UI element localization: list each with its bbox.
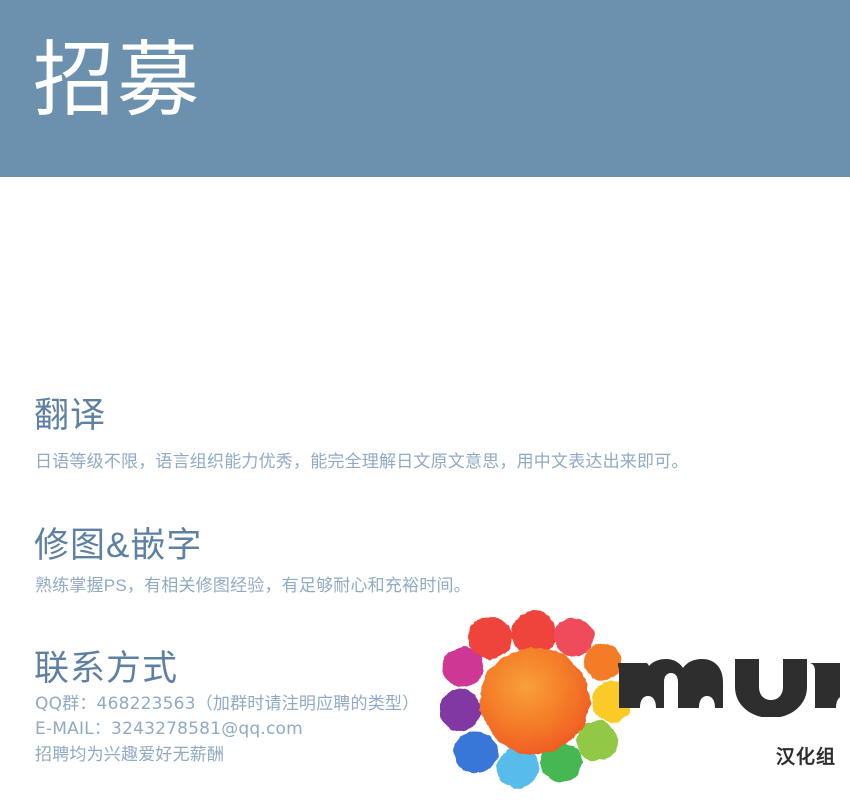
section-heading-contact: 联系方式: [34, 640, 178, 691]
logo-subtitle: 汉化组: [776, 742, 836, 769]
page-title: 招募: [33, 38, 201, 124]
section-body-retouch: 熟练掌握PS，有相关修图经验，有足够耐心和充裕时间。: [35, 571, 471, 596]
contact-line-note: 招聘均为兴趣爱好无薪酬: [35, 742, 419, 767]
section-heading-translate: 翻译: [34, 387, 106, 438]
contact-details: QQ群：468223563（加群时请注明应聘的类型） E-MAIL：324327…: [35, 692, 419, 767]
logo-wordmark-mum: [618, 657, 840, 717]
group-logo: 汉化组: [440, 605, 840, 790]
header-banner: 招募: [0, 0, 850, 177]
section-heading-retouch: 修图&嵌字: [34, 517, 202, 568]
contact-line-email: E-MAIL：3243278581@qq.com: [35, 717, 419, 742]
section-body-translate: 日语等级不限，语言组织能力优秀，能完全理解日文原文意思，用中文表达出来即可。: [35, 447, 689, 472]
watercolor-circle-logo-icon: [440, 605, 630, 790]
contact-line-qq: QQ群：468223563（加群时请注明应聘的类型）: [35, 692, 419, 717]
